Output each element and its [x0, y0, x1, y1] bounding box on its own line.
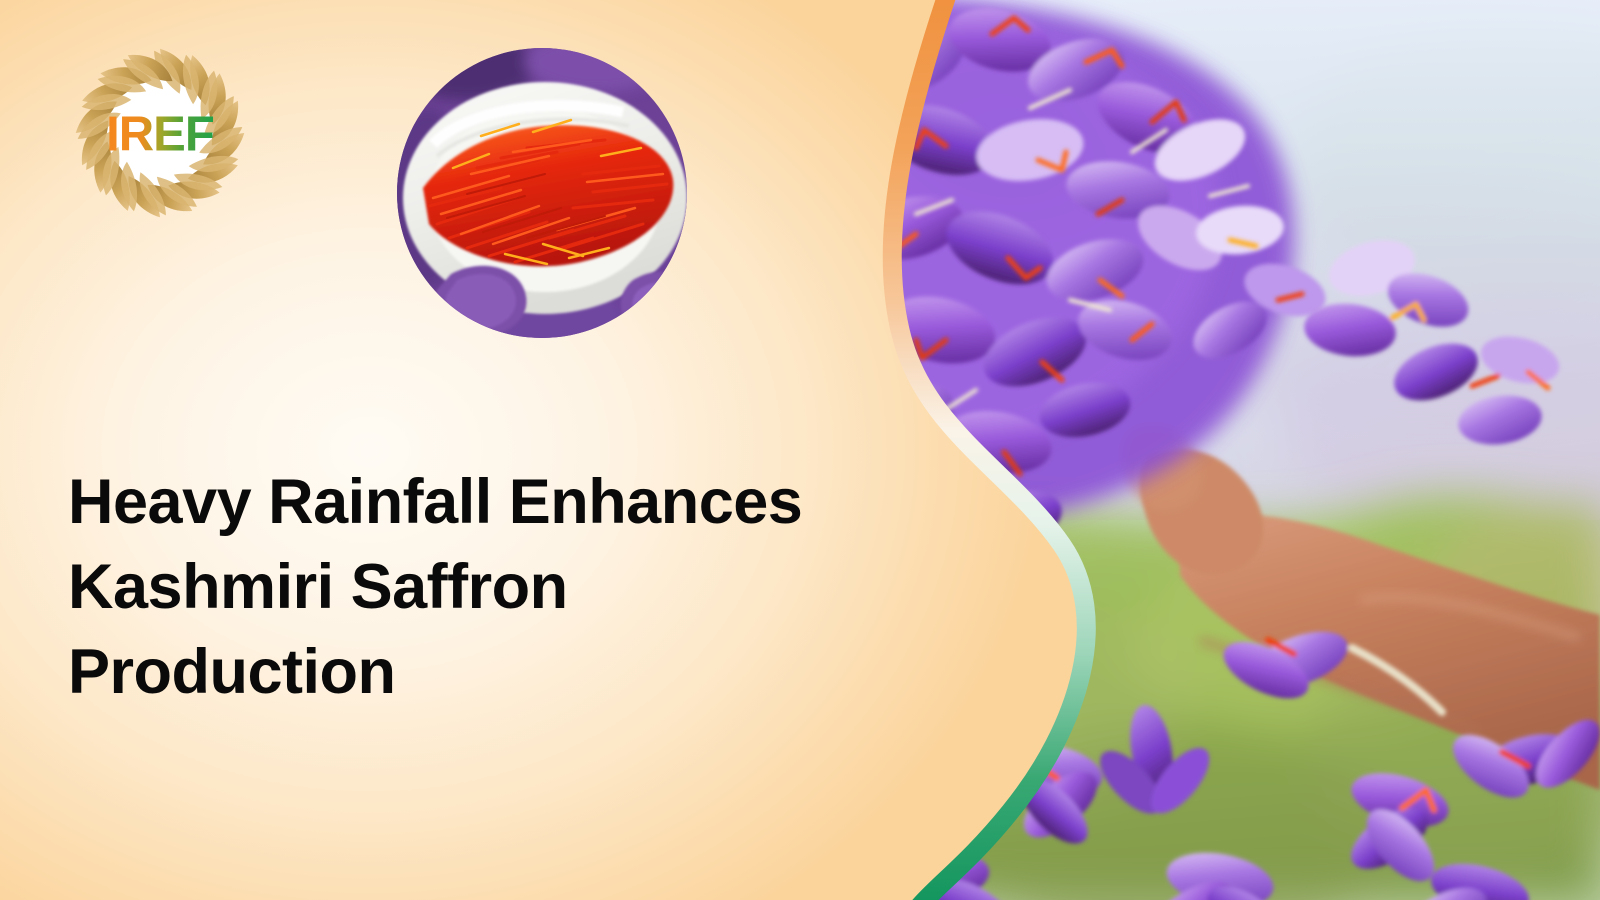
iref-logo: IREF [62, 35, 258, 231]
poster-canvas: IREF [0, 0, 1600, 900]
page-title: Heavy Rainfall Enhances Kashmiri Saffron… [68, 460, 908, 715]
saffron-threads-circle-image [397, 48, 687, 338]
iref-wordmark: IREF [106, 108, 214, 162]
